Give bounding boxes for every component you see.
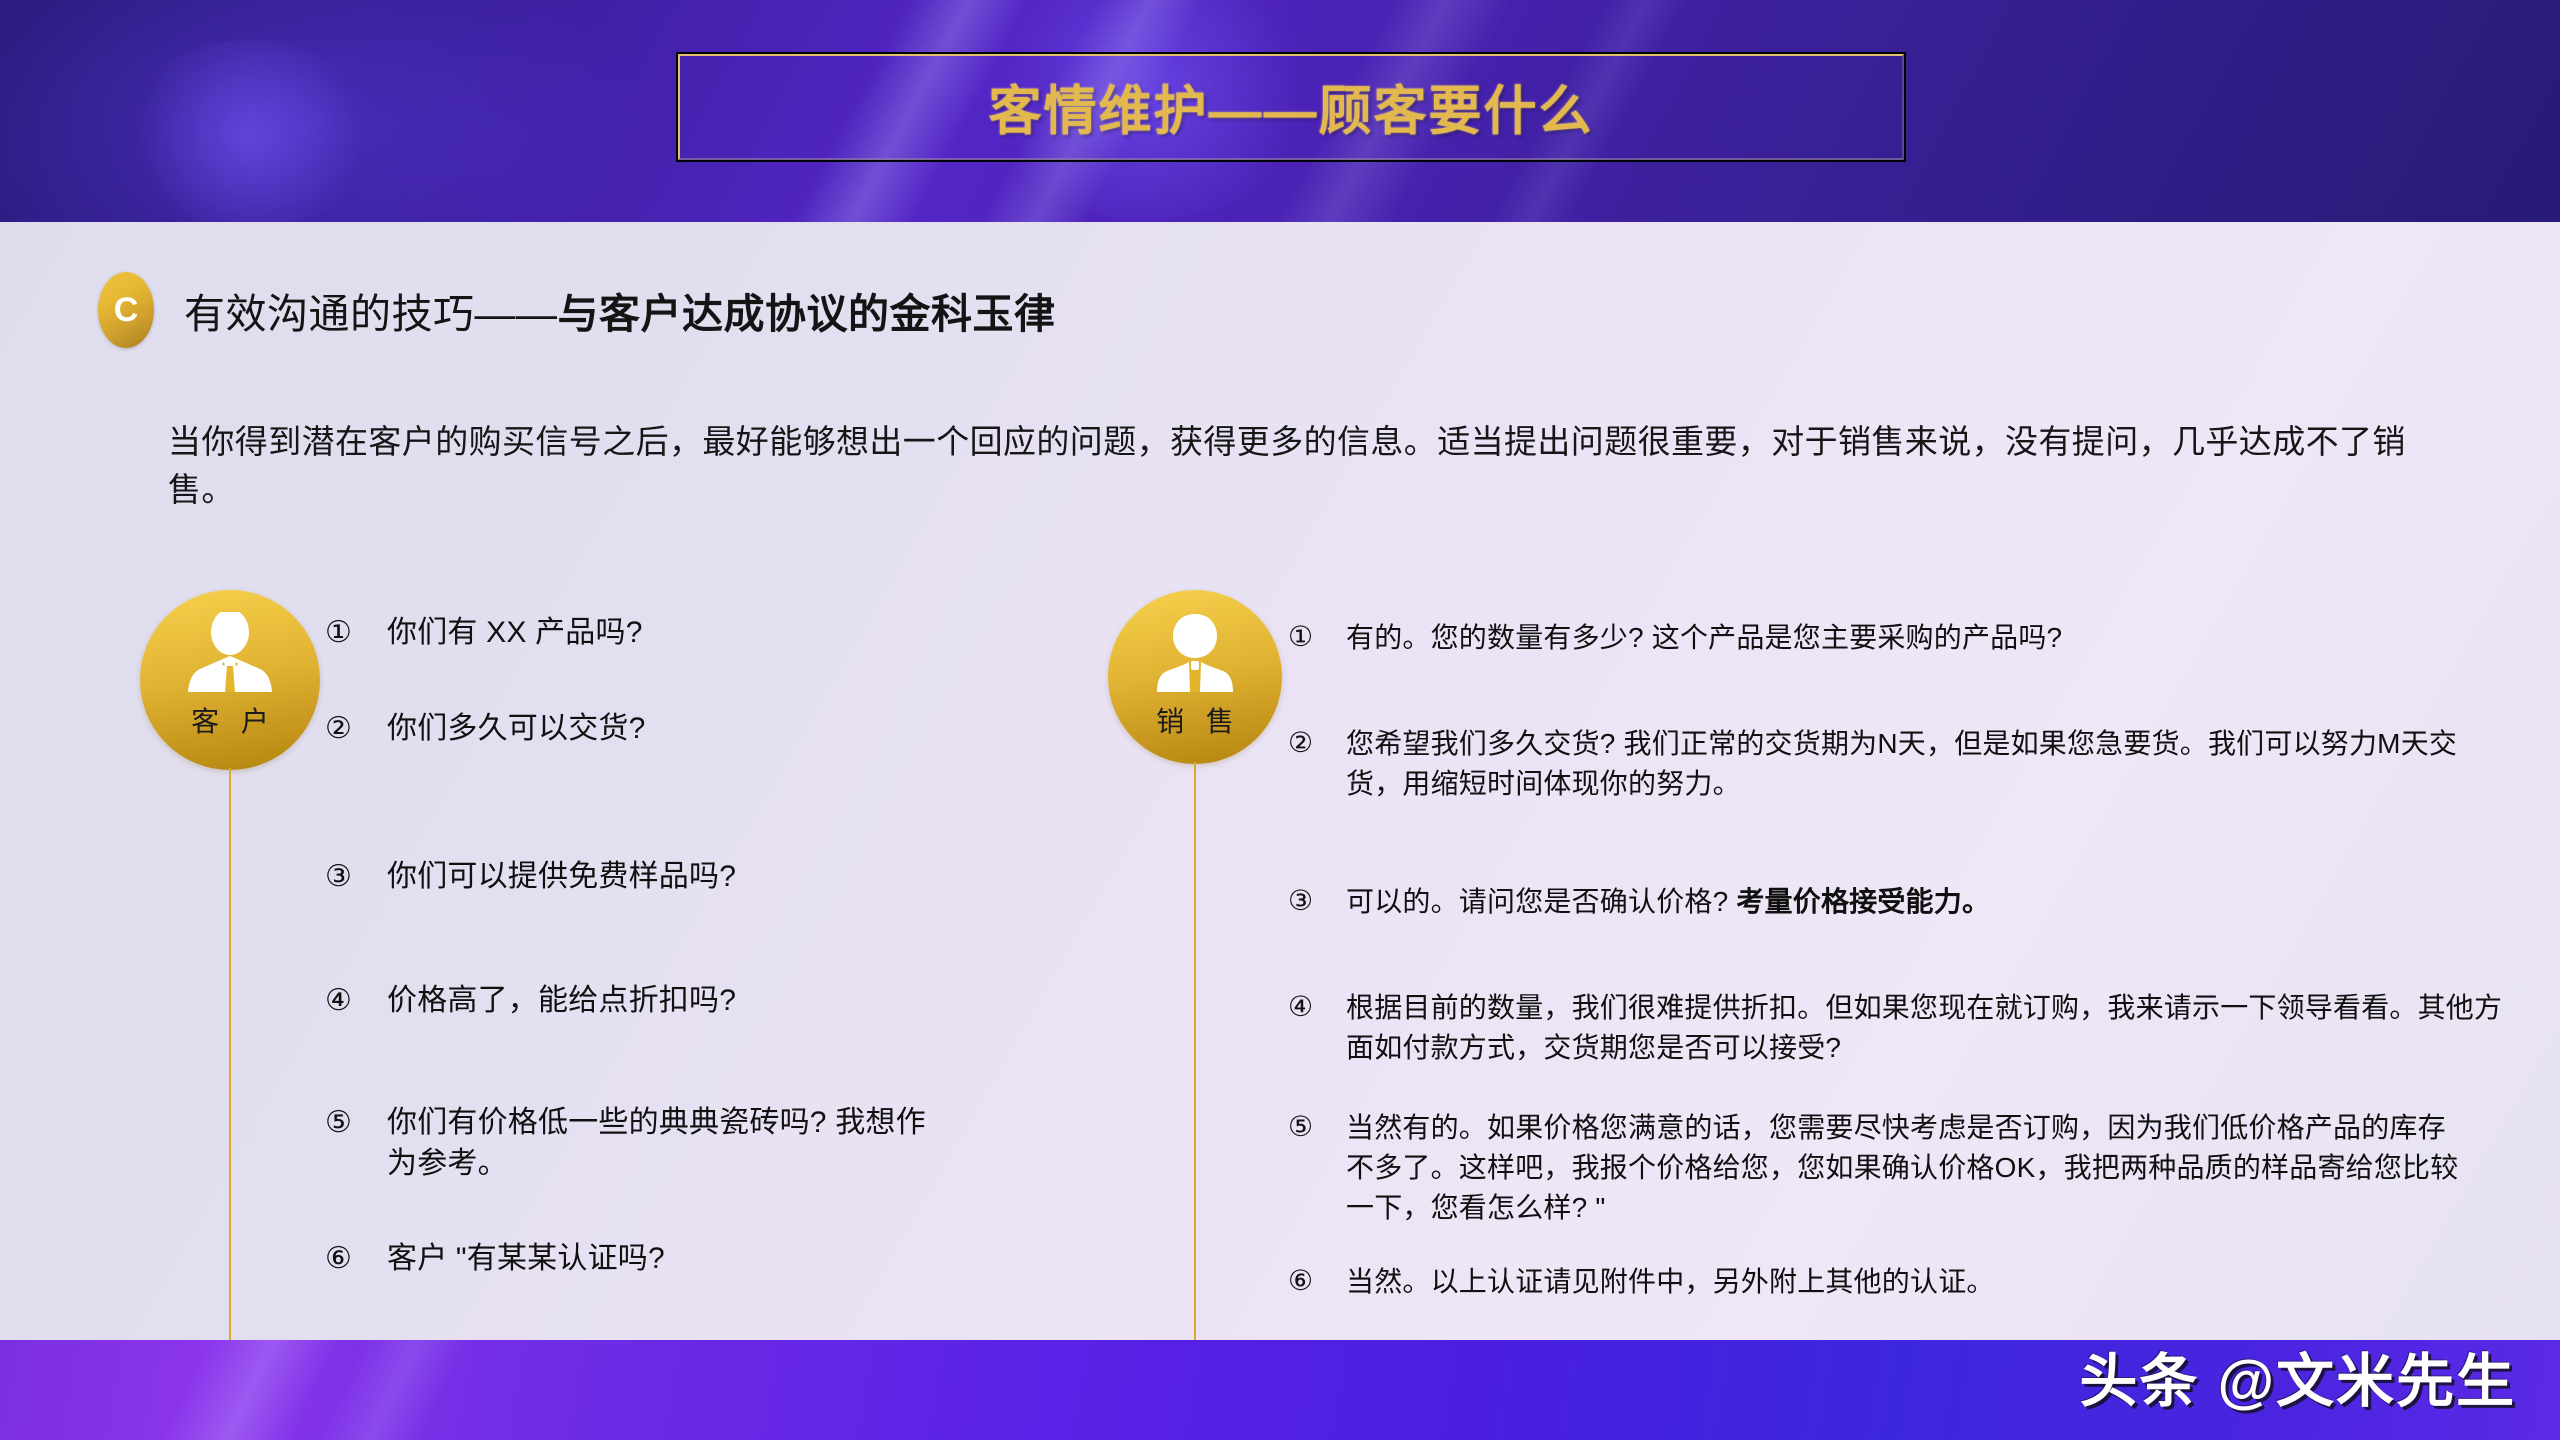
list-item: ⑤ 当然有的。如果价格您满意的话，您需要尽快考虑是否订购，因为我们低价格产品的库… <box>1288 1108 2468 1227</box>
list-item-number: ④ <box>325 980 387 1021</box>
banner-glow-left <box>120 40 380 222</box>
list-item: ③ 你们可以提供免费样品吗? <box>325 856 736 897</box>
list-item-number: ④ <box>1288 988 1346 1027</box>
sales-avatar: 销 售 <box>1108 590 1282 764</box>
list-item: ④ 根据目前的数量，我们很难提供折扣。但如果您现在就订购，我来请示一下领导看看。… <box>1288 988 2503 1068</box>
section-heading: C 有效沟通的技巧——与客户达成协议的金科玉律 <box>98 272 1056 348</box>
list-item: ⑤ 你们有价格低一些的典典瓷砖吗? 我想作为参考。 <box>325 1102 945 1185</box>
list-item-number: ① <box>325 612 387 653</box>
presentation-slide: 客情维护——顾客要什么 C 有效沟通的技巧——与客户达成协议的金科玉律 当你得到… <box>0 0 2560 1440</box>
person-suit-icon <box>178 612 282 698</box>
section-badge-c: C <box>98 272 154 348</box>
list-item: ② 您希望我们多久交货? 我们正常的交货期为N天，但是如果您急要货。我们可以努力… <box>1288 724 2498 804</box>
list-item-text: 可以的。请问您是否确认价格? 考量价格接受能力。 <box>1346 882 1990 922</box>
page-title: 客情维护——顾客要什么 <box>676 52 1906 162</box>
list-item-text: 根据目前的数量，我们很难提供折扣。但如果您现在就订购，我来请示一下领导看看。其他… <box>1346 988 2503 1068</box>
list-item-text: 你们有 XX 产品吗? <box>387 612 643 653</box>
watermark-logo: 头条 @文米先生 <box>2079 1334 2516 1418</box>
section-heading-normal: 有效沟通的技巧—— <box>184 291 558 337</box>
list-item: ⑥ 客户 "有某某认证吗? <box>325 1238 665 1279</box>
list-item-number: ⑤ <box>1288 1108 1346 1147</box>
list-item-text: 价格高了，能给点折扣吗? <box>387 980 736 1021</box>
list-item: ② 你们多久可以交货? <box>325 708 645 749</box>
section-heading-text: 有效沟通的技巧——与客户达成协议的金科玉律 <box>184 280 1056 340</box>
list-item-text: 客户 "有某某认证吗? <box>387 1238 665 1279</box>
list-item: ④ 价格高了，能给点折扣吗? <box>325 980 736 1021</box>
list-item-number: ⑤ <box>325 1102 387 1143</box>
list-item-text: 有的。您的数量有多少? 这个产品是您主要采购的产品吗? <box>1346 618 2062 658</box>
list-item-number: ② <box>1288 724 1346 763</box>
list-item-number: ⑥ <box>325 1238 387 1279</box>
list-item-number: ② <box>325 708 387 749</box>
list-item-text: 你们有价格低一些的典典瓷砖吗? 我想作为参考。 <box>387 1102 945 1185</box>
list-item-text: 你们可以提供免费样品吗? <box>387 856 736 897</box>
intro-paragraph: 当你得到潜在客户的购买信号之后，最好能够想出一个回应的问题，获得更多的信息。适当… <box>168 418 2408 514</box>
list-item-text-normal: 可以的。请问您是否确认价格? <box>1346 886 1736 917</box>
list-item: ⑥ 当然。以上认证请见附件中，另外附上其他的认证。 <box>1288 1262 2548 1302</box>
list-item-number: ① <box>1288 618 1346 657</box>
customer-avatar: 客 户 <box>140 590 320 770</box>
list-item-number: ③ <box>1288 882 1346 921</box>
list-item: ① 你们有 XX 产品吗? <box>325 612 643 653</box>
list-item: ③ 可以的。请问您是否确认价格? 考量价格接受能力。 <box>1288 882 2548 922</box>
list-item-number: ⑥ <box>1288 1262 1346 1301</box>
customer-connector-line <box>229 768 231 1428</box>
customer-avatar-label: 客 户 <box>184 700 276 740</box>
list-item-text: 您希望我们多久交货? 我们正常的交货期为N天，但是如果您急要货。我们可以努力M天… <box>1346 724 2498 804</box>
section-heading-bold: 与客户达成协议的金科玉律 <box>558 291 1056 337</box>
list-item-text: 当然。以上认证请见附件中，另外附上其他的认证。 <box>1346 1262 1995 1302</box>
list-item: ① 有的。您的数量有多少? 这个产品是您主要采购的产品吗? <box>1288 618 2548 658</box>
list-item-number: ③ <box>325 856 387 897</box>
sales-connector-line <box>1194 762 1196 1428</box>
person-sales-icon <box>1143 612 1247 698</box>
list-item-text: 你们多久可以交货? <box>387 708 645 749</box>
list-item-text-bold: 考量价格接受能力。 <box>1736 886 1990 917</box>
sales-avatar-label: 销 售 <box>1149 700 1241 740</box>
list-item-text: 当然有的。如果价格您满意的话，您需要尽快考虑是否订购，因为我们低价格产品的库存不… <box>1346 1108 2468 1227</box>
